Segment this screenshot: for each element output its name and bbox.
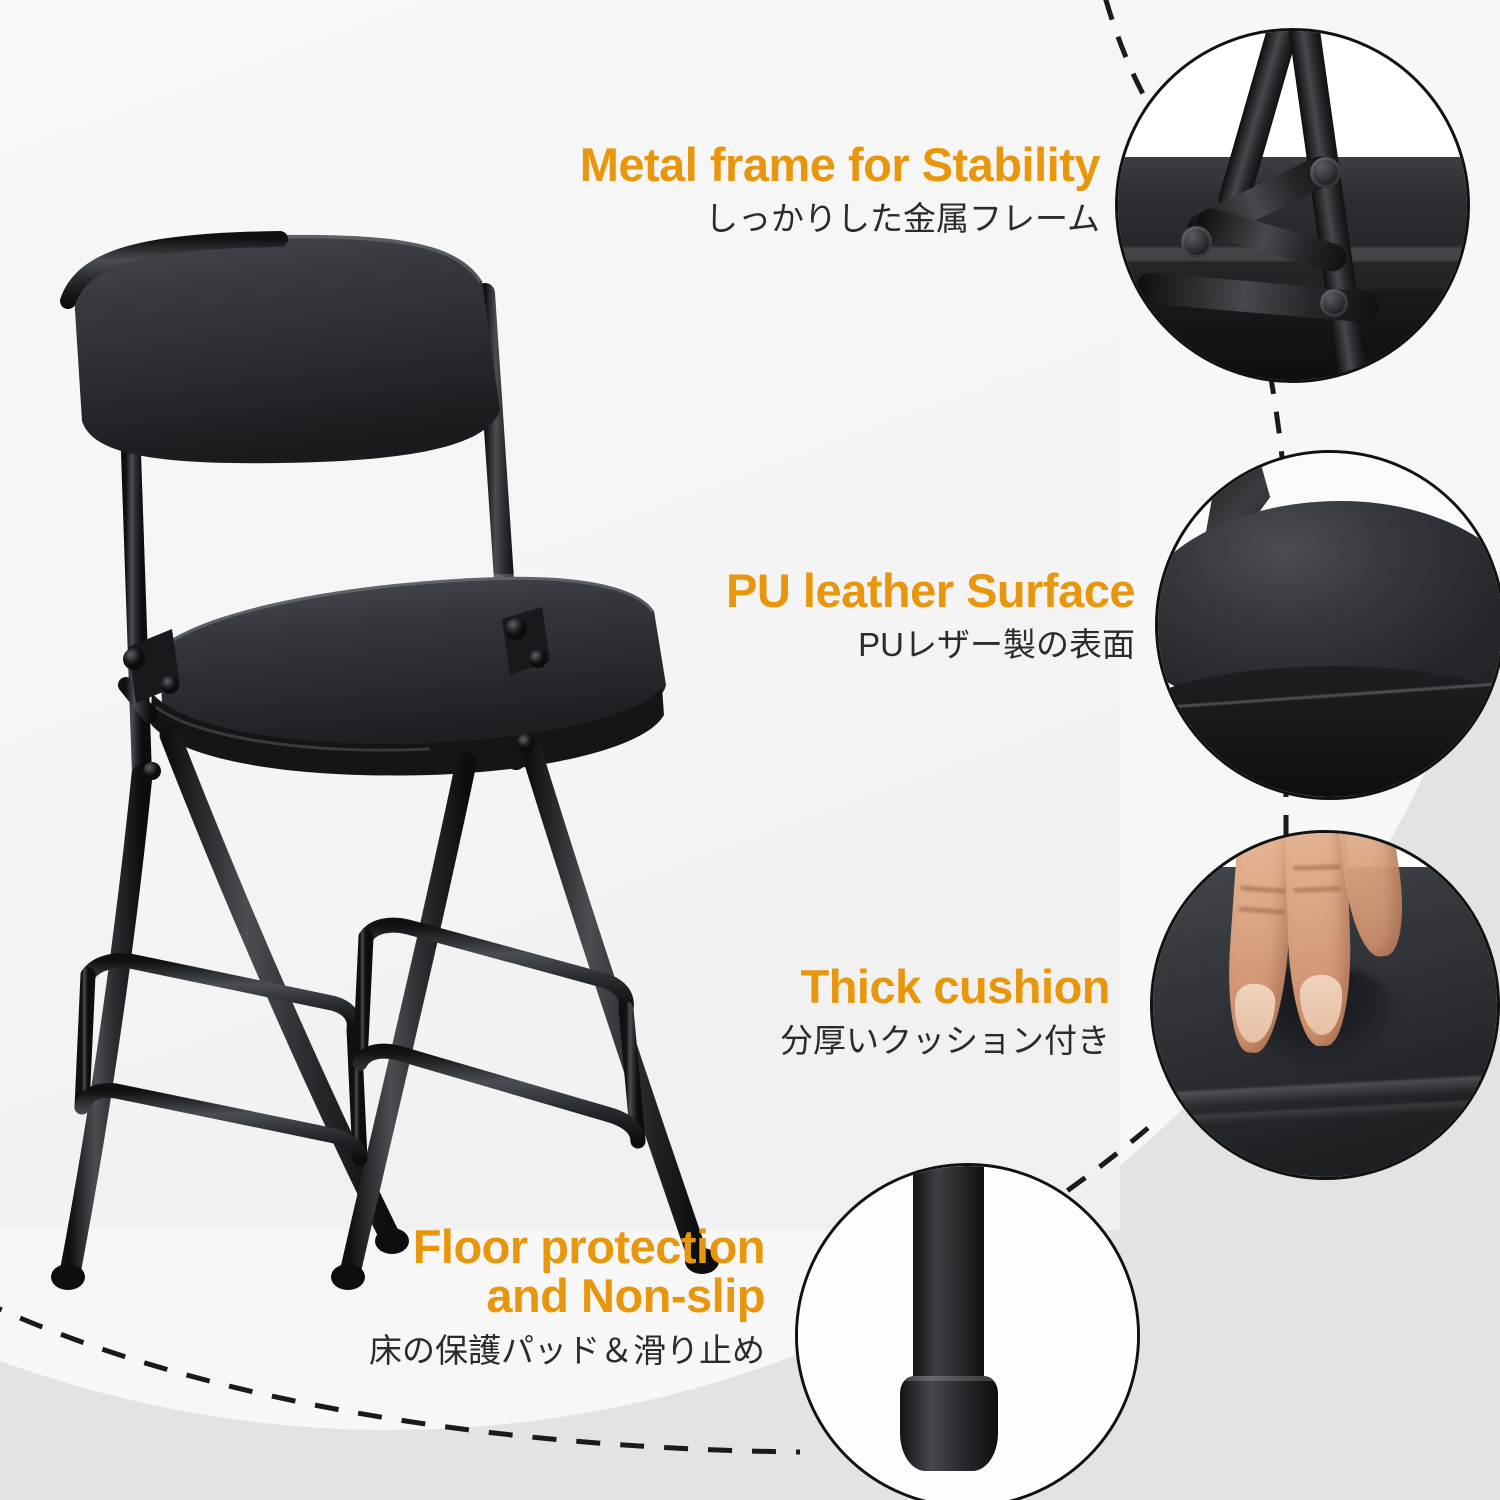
feature-title-en-floor-protection: Floor protection and Non-slip: [369, 1222, 765, 1321]
feature-title-en-thick-cushion: Thick cushion: [780, 962, 1110, 1011]
hinge-rivet-left: [1181, 226, 1212, 257]
finger-knuckle-line: [1240, 885, 1286, 893]
leg-cap-seam: [900, 1376, 998, 1381]
feature-title-jp-floor-protection: 床の保護パッド＆滑り止め: [369, 1331, 765, 1371]
feature-title-jp-thick-cushion: 分厚いクッション付き: [780, 1021, 1110, 1061]
detail-circle-floor-protection: [795, 1163, 1140, 1500]
feature-metal-frame: Metal frame for Stability しっかりした金属フレーム: [580, 140, 1100, 239]
detail-circle-frame-hinge: [1115, 28, 1470, 383]
infographic-canvas: Metal frame for Stability しっかりした金属フレーム P…: [0, 0, 1500, 1500]
feature-title-en-metal-frame: Metal frame for Stability: [580, 140, 1100, 189]
finger-knuckle-line: [1239, 907, 1285, 915]
feature-title-jp-metal-frame: しっかりした金属フレーム: [580, 199, 1100, 239]
feature-thick-cushion: Thick cushion 分厚いクッション付き: [780, 962, 1110, 1061]
finger-knuckle-line: [1293, 886, 1341, 893]
leg-floor-cap: [900, 1376, 998, 1471]
finger-knuckle-line: [1292, 864, 1340, 871]
fingernail: [1299, 974, 1343, 1036]
feature-pu-leather: PU leather Surface PUレザー製の表面: [726, 566, 1135, 665]
folding-chair-photo: [30, 215, 770, 1345]
detail-circle-pu-leather: [1155, 450, 1500, 800]
feature-title-jp-pu-leather: PUレザー製の表面: [726, 625, 1135, 665]
detail-circle-thick-cushion: [1150, 830, 1500, 1180]
leg-tube: [913, 1163, 984, 1397]
fingernail: [1233, 982, 1277, 1044]
feature-floor-protection: Floor protection and Non-slip 床の保護パッド＆滑り…: [369, 1222, 765, 1370]
feature-title-en-pu-leather: PU leather Surface: [726, 566, 1135, 615]
